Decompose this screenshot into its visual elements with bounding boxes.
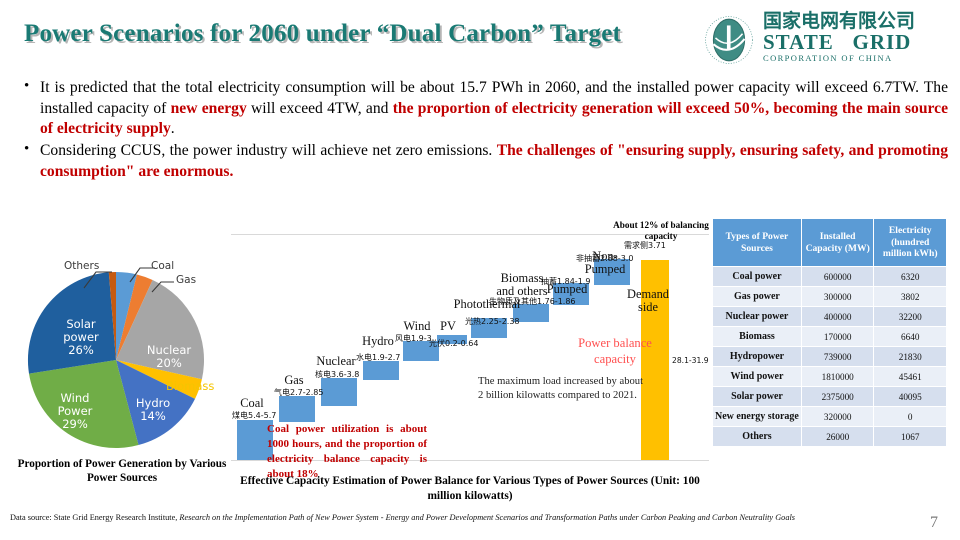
slide: Power Scenarios for 2060 under “Dual Car…	[0, 0, 960, 540]
state-grid-globe-icon	[703, 14, 755, 66]
waterfall-label-demand-side: Demandside	[621, 288, 675, 314]
table-cell-capacity: 320000	[801, 407, 874, 427]
table-row: Biomass 170000 6640	[713, 327, 947, 347]
table-cell-name: New energy storage	[713, 407, 802, 427]
waterfall-cn-photothermal: 光热2.25-2.38	[465, 316, 520, 327]
brand-logo: 国家电网有限公司 STATE GRID CORPORATION OF CHINA	[703, 12, 948, 68]
pie-label-others: Others	[64, 260, 99, 272]
pie-label-coal: Coal	[151, 260, 174, 272]
table-row: Nuclear power 400000 32200	[713, 307, 947, 327]
table-cell-capacity: 1810000	[801, 367, 874, 387]
table-row: Wind power 1810000 45461	[713, 367, 947, 387]
table-cell-name: Nuclear power	[713, 307, 802, 327]
pie-inlabel-hydro-l1: Hydro	[136, 396, 170, 410]
pie-inlabel-hydro: Hydro 14%	[128, 397, 178, 423]
table-header-types: Types of Power Sources	[713, 219, 802, 267]
table-header-row: Types of Power Sources Installed Capacit…	[713, 219, 947, 267]
table-cell-electricity: 1067	[874, 427, 947, 447]
bullet-2-seg-1: Considering CCUS, the power industry wil…	[40, 142, 497, 159]
waterfall-cn-pumped: 抽蓄1.84-1.9	[541, 276, 590, 287]
table-container: Types of Power Sources Installed Capacit…	[712, 218, 947, 447]
table-row: Hydropower 739000 21830	[713, 347, 947, 367]
table-cell-name: Coal power	[713, 267, 802, 287]
table-row: New energy storage 320000 0	[713, 407, 947, 427]
table-row: Coal power 600000 6320	[713, 267, 947, 287]
table-cell-electricity: 6640	[874, 327, 947, 347]
table-cell-name: Wind power	[713, 367, 802, 387]
waterfall-cn-biomass-others: 生物质及其他1.76-1.86	[489, 296, 576, 307]
table-cell-capacity: 2375000	[801, 387, 874, 407]
pie-inlabel-solar-l3: 26%	[68, 343, 94, 357]
data-source-note: Data source: State Grid Energy Research …	[10, 512, 890, 523]
table-row: Others 26000 1067	[713, 427, 947, 447]
waterfall-cn-pv: 光伏0.2-0.64	[429, 338, 478, 349]
bullet-1-seg-3: will exceed 4TW, and	[247, 100, 393, 117]
pie-inlabel-solar-l2: power	[63, 330, 99, 344]
bullet-1-seg-5: .	[171, 120, 175, 137]
table-cell-capacity: 170000	[801, 327, 874, 347]
bullet-list: It is predicted that the total electrici…	[14, 78, 948, 183]
bullet-item-2: Considering CCUS, the power industry wil…	[14, 141, 948, 182]
table-cell-capacity: 300000	[801, 287, 874, 307]
bullet-1-seg-2: new energy	[171, 100, 247, 117]
table-cell-name: Solar power	[713, 387, 802, 407]
pie-inlabel-biomass: Biomass	[166, 380, 228, 393]
logo-chinese-name: 国家电网有限公司	[763, 12, 948, 31]
pie-inlabel-nuclear-l2: 20%	[156, 356, 182, 370]
waterfall-cn-hydro: 水电1.9-2.7	[356, 352, 400, 363]
bullet-item-1: It is predicted that the total electrici…	[14, 78, 948, 140]
pie-inlabel-nuclear-l1: Nuclear	[147, 343, 191, 357]
waterfall-bar-hydro	[363, 361, 399, 380]
pie-inlabel-wind-l2: Power	[58, 404, 93, 418]
pie-inlabel-solar-l1: Solar	[66, 317, 95, 331]
waterfall-label-gas: Gas	[271, 374, 317, 387]
page-title: Power Scenarios for 2060 under “Dual Car…	[24, 20, 621, 48]
pie-chart-caption: Proportion of Power Generation by Variou…	[12, 457, 232, 485]
data-source-title: Research on the Implementation Path of N…	[179, 513, 795, 522]
table-cell-electricity: 32200	[874, 307, 947, 327]
table-row: Gas power 300000 3802	[713, 287, 947, 307]
table-cell-electricity: 45461	[874, 367, 947, 387]
pie-label-gas: Gas	[176, 274, 196, 286]
pie-inlabel-wind: Wind Power 29%	[42, 392, 108, 432]
waterfall-black-note: The maximum load increased by about 2 bi…	[478, 375, 650, 403]
table-cell-electricity: 40095	[874, 387, 947, 407]
page-number: 7	[930, 514, 938, 532]
pie-inlabel-wind-l3: 29%	[62, 417, 88, 431]
waterfall-total-value: 28.1-31.9	[672, 356, 709, 365]
logo-grid-word: GRID	[853, 30, 912, 54]
table-cell-capacity: 600000	[801, 267, 874, 287]
waterfall-total-name: Power balance capacity	[561, 336, 669, 367]
pie-inlabel-nuclear: Nuclear 20%	[140, 344, 198, 370]
table-cell-electricity: 6320	[874, 267, 947, 287]
waterfall-bar-nuclear	[321, 378, 357, 406]
table-cell-electricity: 0	[874, 407, 947, 427]
waterfall-chart-caption: Effective Capacity Estimation of Power B…	[231, 474, 709, 504]
waterfall-top-annotation: About 12% of balancing capacity	[613, 220, 709, 242]
slide-header: Power Scenarios for 2060 under “Dual Car…	[0, 0, 960, 72]
table-cell-name: Hydropower	[713, 347, 802, 367]
power-source-capacity-table: Types of Power Sources Installed Capacit…	[712, 218, 947, 447]
waterfall-total-name-l2: capacity	[594, 352, 636, 366]
table-row: Solar power 2375000 40095	[713, 387, 947, 407]
waterfall-cn-non-pumped: 非抽蓄2.88-3.0	[576, 253, 633, 264]
pie-inlabel-wind-l1: Wind	[61, 391, 90, 405]
waterfall-red-note: Coal power utilization is about 1000 hou…	[267, 422, 427, 482]
waterfall-total-name-l1: Power balance	[578, 336, 652, 350]
waterfall-chart: Coal Gas Nuclear Hydro Wind PV Photother…	[231, 228, 709, 510]
table-header-capacity: Installed Capacity (MW)	[801, 219, 874, 267]
logo-state-word: STATE	[763, 30, 834, 54]
waterfall-label-coal: Coal	[229, 397, 275, 410]
data-source-prefix: Data source: State Grid Energy Research …	[10, 513, 179, 522]
logo-english-name: STATE GRID	[763, 32, 948, 53]
table-cell-electricity: 21830	[874, 347, 947, 367]
waterfall-cn-nuclear: 核电3.6-3.8	[315, 369, 359, 380]
waterfall-label-pv: PV	[434, 320, 462, 333]
pie-chart: Others Coal Gas Solar power 26% Wind Pow…	[12, 252, 232, 510]
table-cell-capacity: 400000	[801, 307, 874, 327]
pie-inlabel-solar: Solar power 26%	[50, 318, 112, 358]
table-cell-electricity: 3802	[874, 287, 947, 307]
table-cell-name: Biomass	[713, 327, 802, 347]
waterfall-cn-coal: 煤电5.4-5.7	[232, 410, 276, 421]
table-cell-name: Others	[713, 427, 802, 447]
table-cell-capacity: 26000	[801, 427, 874, 447]
table-cell-capacity: 739000	[801, 347, 874, 367]
pie-inlabel-hydro-l2: 14%	[140, 409, 166, 423]
waterfall-bar-gas	[279, 396, 315, 422]
waterfall-cn-gas: 气电2.7-2.85	[274, 387, 323, 398]
table-cell-name: Gas power	[713, 287, 802, 307]
logo-subtitle: CORPORATION OF CHINA	[763, 54, 948, 63]
table-header-electricity: Electricity (hundred million kWh)	[874, 219, 947, 267]
